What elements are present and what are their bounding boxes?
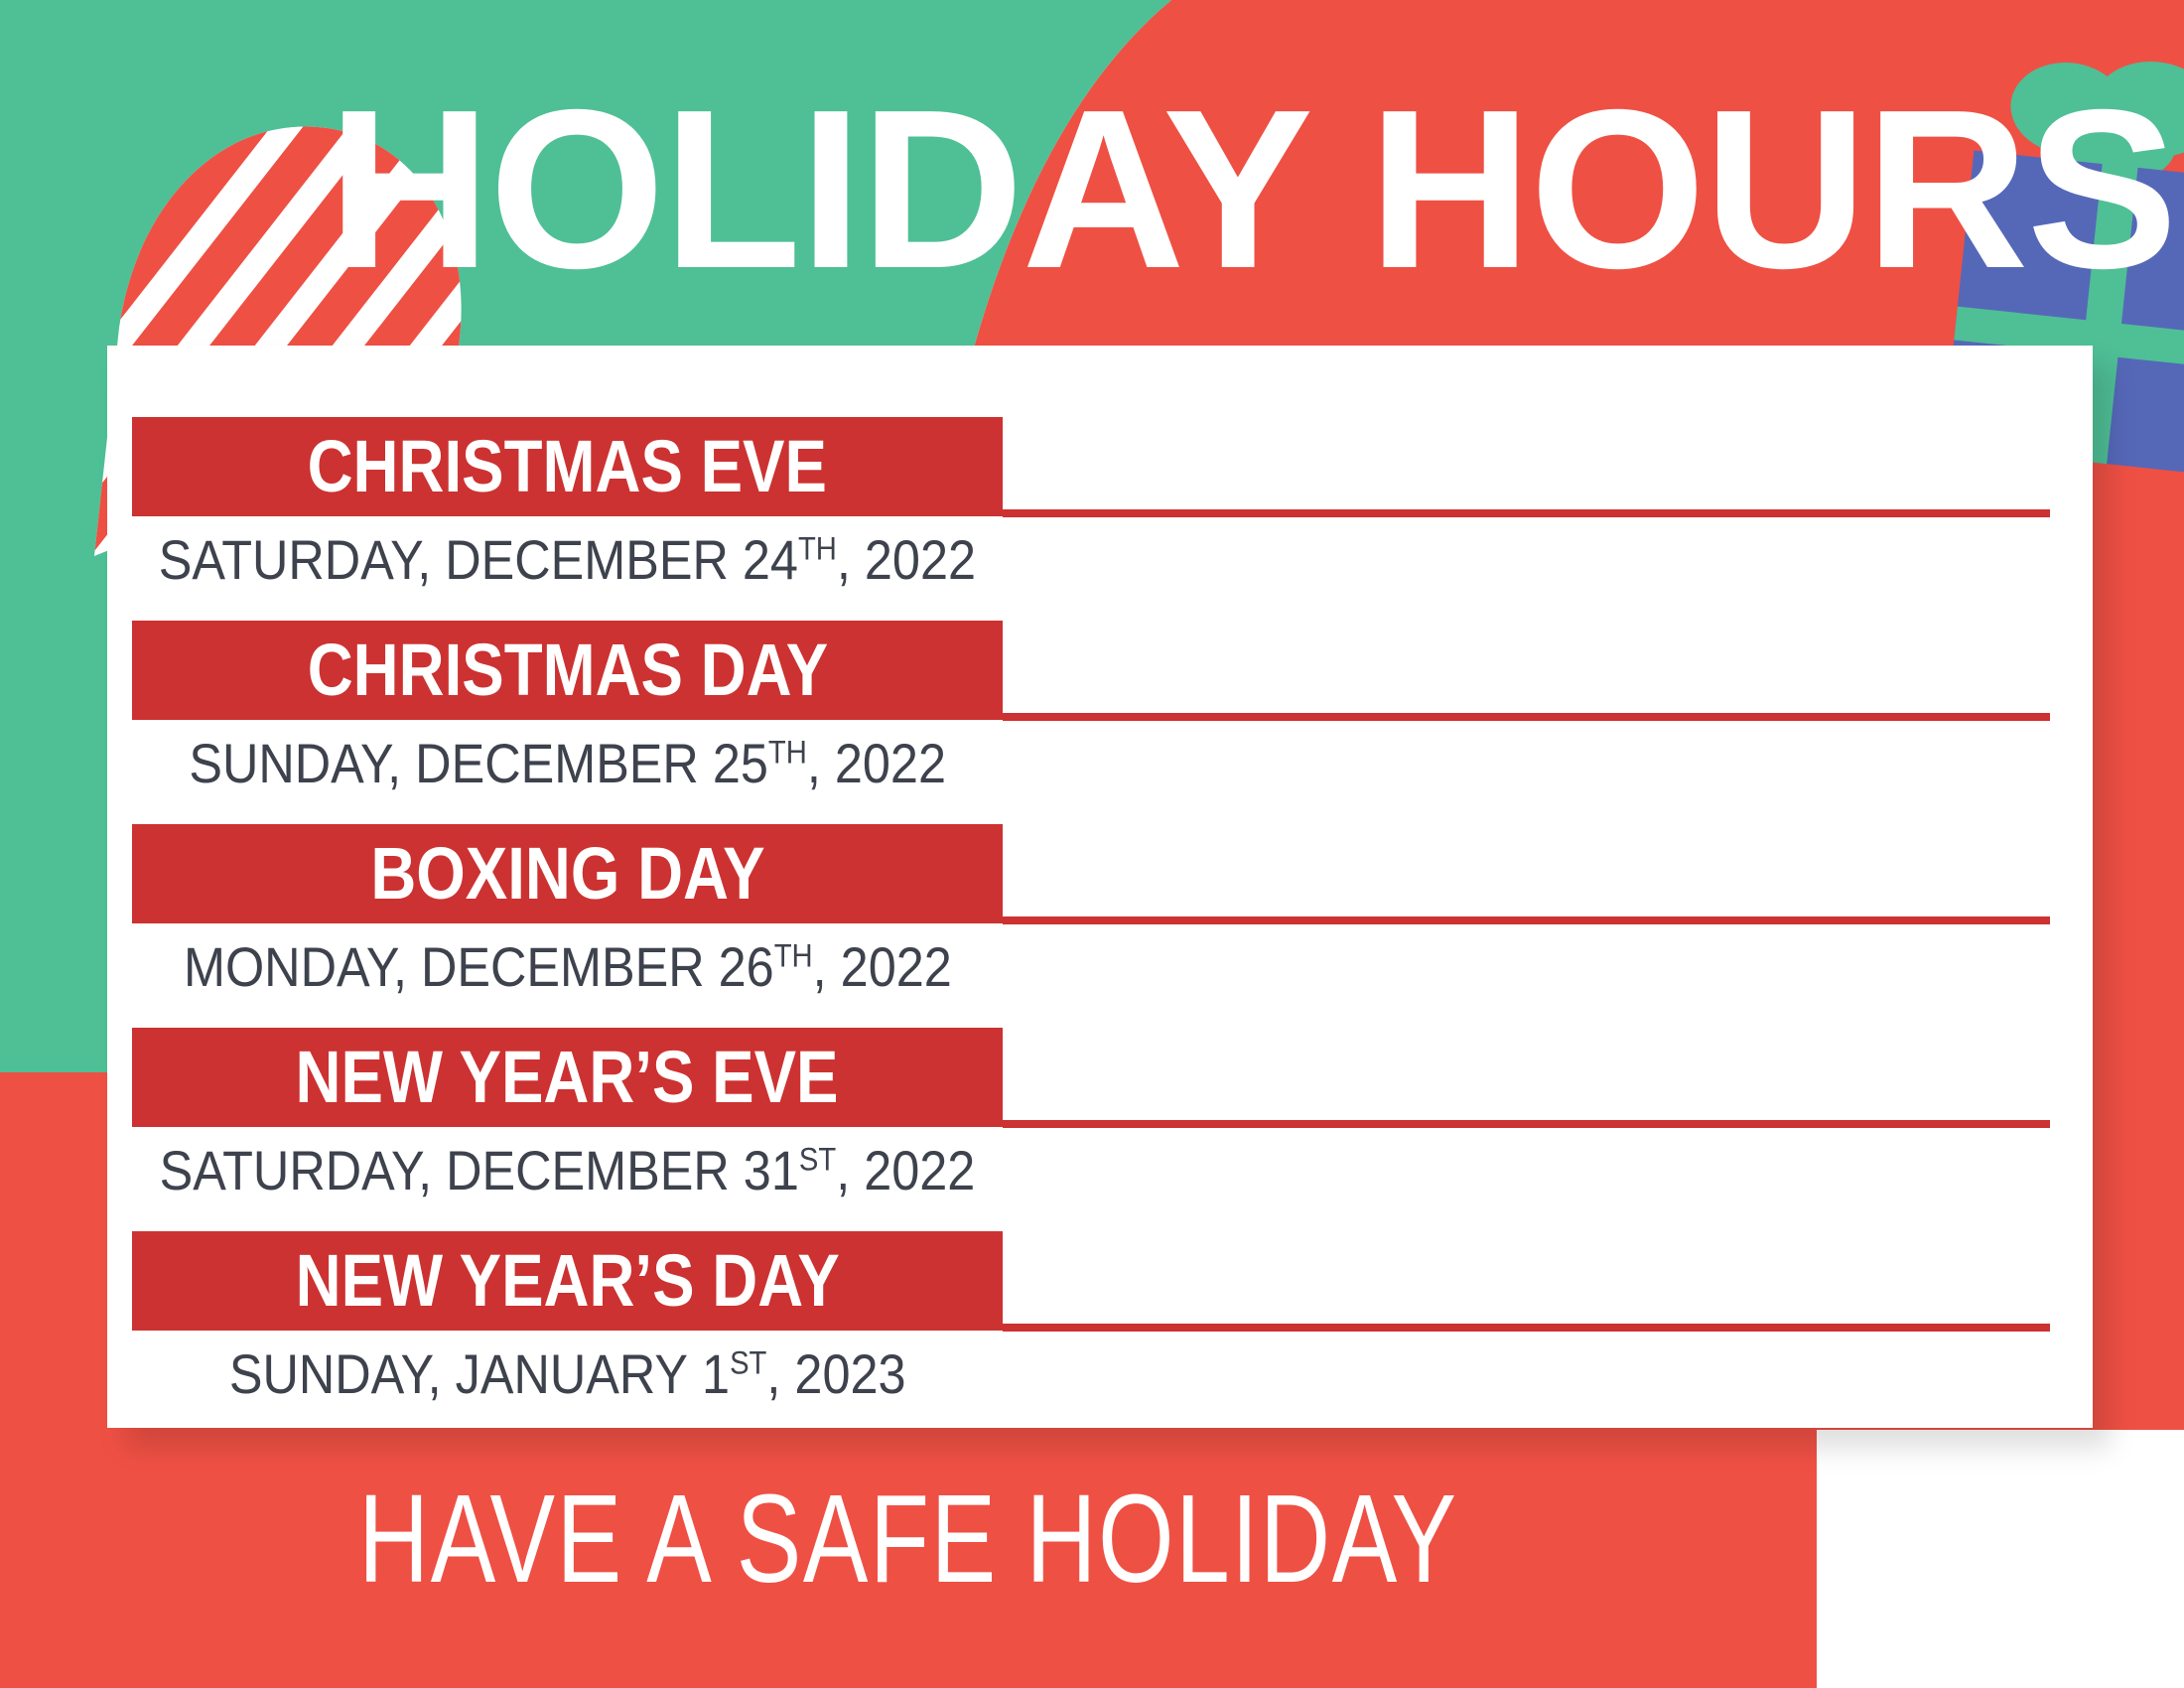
list-item: BOXING DAY MONDAY, DECEMBER 26TH, 2022: [132, 824, 2068, 1028]
date-year: 2022: [835, 732, 946, 794]
page-title: HOLIDAY HOURS: [328, 75, 1956, 304]
date-year: 2022: [864, 1139, 975, 1201]
date-month: DECEMBER: [415, 732, 699, 794]
list-item: NEW YEAR’S EVE SATURDAY, DECEMBER 31ST, …: [132, 1028, 2068, 1231]
holiday-name: BOXING DAY: [370, 835, 764, 913]
holiday-date: MONDAY, DECEMBER 26TH, 2022: [132, 927, 1003, 1007]
date-day: 1: [702, 1342, 730, 1405]
date-ordinal: ST: [730, 1344, 766, 1380]
write-in-line: [1003, 509, 2050, 517]
date-day: 26: [718, 935, 773, 998]
holiday-banner: NEW YEAR’S DAY: [132, 1231, 1003, 1331]
write-in-line: [1003, 1324, 2050, 1332]
list-item: NEW YEAR’S DAY SUNDAY, JANUARY 1ST, 2023: [132, 1231, 2068, 1435]
date-ordinal: TH: [773, 937, 812, 973]
date-month: DECEMBER: [445, 528, 729, 591]
date-ordinal: TH: [768, 734, 807, 770]
holiday-name: NEW YEAR’S DAY: [295, 1242, 839, 1320]
date-year: 2022: [865, 528, 976, 591]
footer-message-text: HAVE A SAFE HOLIDAY: [358, 1474, 1457, 1605]
date-month: JANUARY: [455, 1342, 687, 1405]
holiday-banner: CHRISTMAS EVE: [132, 417, 1003, 516]
footer-message: HAVE A SAFE HOLIDAY: [0, 1470, 1817, 1609]
holiday-banner: BOXING DAY: [132, 824, 1003, 923]
list-item: CHRISTMAS EVE SATURDAY, DECEMBER 24TH, 2…: [132, 417, 2068, 621]
holiday-date: SUNDAY, DECEMBER 25TH, 2022: [132, 724, 1003, 803]
date-ordinal: ST: [799, 1141, 836, 1177]
date-weekday: SATURDAY,: [159, 528, 431, 591]
holiday-banner: NEW YEAR’S EVE: [132, 1028, 1003, 1127]
hours-list: CHRISTMAS EVE SATURDAY, DECEMBER 24TH, 2…: [107, 346, 2093, 1428]
date-weekday: SUNDAY,: [189, 732, 401, 794]
date-month: DECEMBER: [446, 1139, 730, 1201]
date-ordinal: TH: [798, 530, 837, 566]
write-in-line: [1003, 1120, 2050, 1128]
holiday-name: CHRISTMAS DAY: [307, 632, 828, 709]
holiday-banner: CHRISTMAS DAY: [132, 621, 1003, 720]
date-month: DECEMBER: [421, 935, 705, 998]
hours-card: CHRISTMAS EVE SATURDAY, DECEMBER 24TH, 2…: [107, 346, 2093, 1428]
holiday-date: SUNDAY, JANUARY 1ST, 2023: [132, 1335, 1003, 1414]
write-in-line: [1003, 713, 2050, 721]
date-weekday: SATURDAY,: [160, 1139, 432, 1201]
holiday-name: CHRISTMAS EVE: [308, 428, 827, 505]
write-in-line: [1003, 916, 2050, 924]
date-year: 2023: [794, 1342, 905, 1405]
holiday-hours-poster: HOLIDAY HOURS CHRISTMAS EVE SATURDAY, DE…: [0, 0, 2184, 1688]
date-day: 31: [744, 1139, 799, 1201]
holiday-date: SATURDAY, DECEMBER 31ST, 2022: [132, 1131, 1003, 1210]
holiday-name: NEW YEAR’S EVE: [296, 1039, 839, 1116]
date-day: 24: [743, 528, 798, 591]
list-item: CHRISTMAS DAY SUNDAY, DECEMBER 25TH, 202…: [132, 621, 2068, 824]
holiday-date: SATURDAY, DECEMBER 24TH, 2022: [132, 520, 1003, 600]
date-weekday: MONDAY,: [184, 935, 407, 998]
date-weekday: SUNDAY,: [229, 1342, 442, 1405]
date-day: 25: [713, 732, 768, 794]
date-year: 2022: [840, 935, 951, 998]
